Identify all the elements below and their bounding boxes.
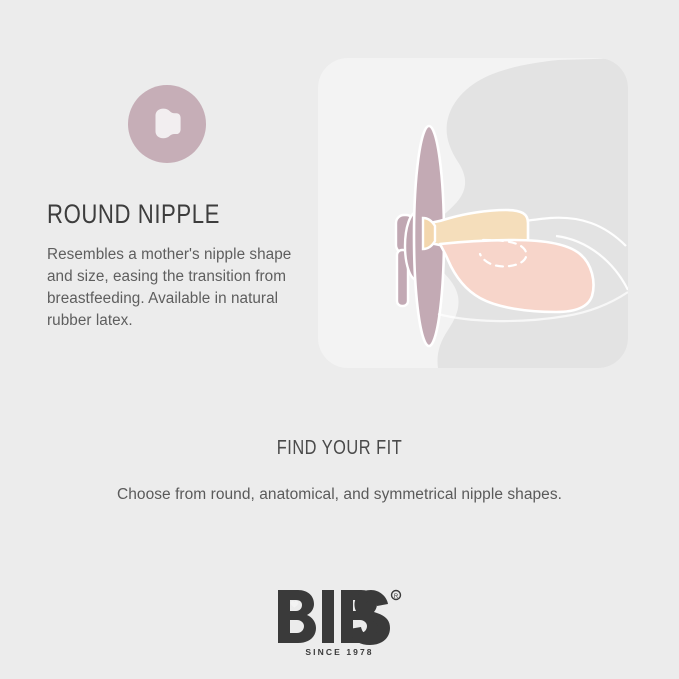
logo-tagline: SINCE 1978	[305, 647, 373, 657]
infographic-page: ROUND NIPPLE Resembles a mother's nipple…	[0, 0, 679, 679]
find-your-fit-section: FIND YOUR FIT Choose from round, anatomi…	[0, 438, 679, 506]
logo-tagline-wrap: SINCE 1978	[0, 647, 679, 657]
find-your-fit-subtitle: Choose from round, anatomical, and symme…	[0, 484, 679, 506]
heart-icon	[290, 601, 298, 608]
bibs-logo: R SINCE 1978	[0, 586, 679, 657]
round-nipple-shape-icon	[128, 85, 206, 163]
feature-top-section: ROUND NIPPLE Resembles a mother's nipple…	[0, 0, 679, 400]
find-your-fit-title: FIND YOUR FIT	[61, 438, 618, 458]
feature-title: ROUND NIPPLE	[47, 201, 252, 228]
illustration-panel	[318, 58, 628, 368]
face-silhouette-shape	[428, 58, 628, 368]
feature-description: Resembles a mother's nipple shape and si…	[47, 244, 292, 331]
svg-text:R: R	[393, 594, 398, 600]
feature-text-column: ROUND NIPPLE Resembles a mother's nipple…	[47, 85, 297, 331]
